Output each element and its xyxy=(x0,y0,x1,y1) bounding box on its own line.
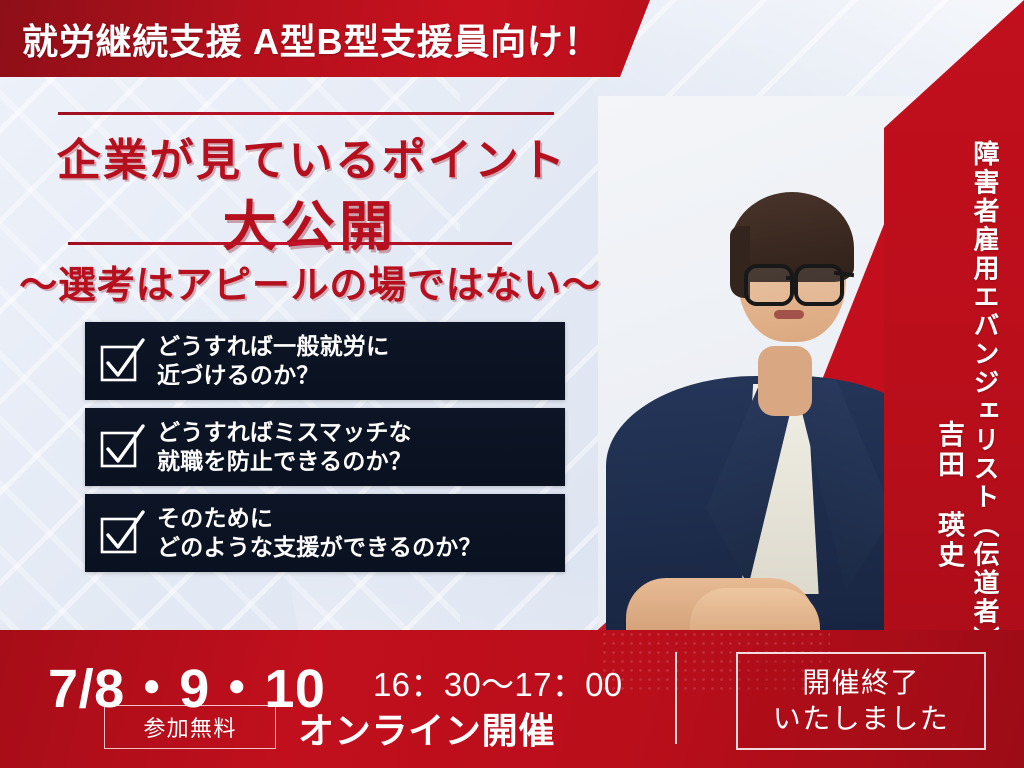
headline-rule-bottom xyxy=(68,242,512,245)
status-line-1: 開催終了 xyxy=(802,665,920,701)
speaker-title: 障害者雇用エバンジェリスト（伝道者） xyxy=(972,140,998,655)
checkbox-checked-icon xyxy=(99,424,145,470)
status-line-2: いたしました xyxy=(773,701,949,737)
checklist-item-label: どうすれば一般就労に 近づけるのか？ xyxy=(157,332,389,390)
checklist-item-label: そのために どのような支援ができるのか？ xyxy=(157,504,482,562)
speaker-mouth xyxy=(774,310,804,319)
headline-line-1: 企業が見ているポイント xyxy=(0,124,624,188)
event-format: オンライン開催 xyxy=(298,702,555,754)
headline-subtitle: 〜選考はアピールの場ではない〜 xyxy=(0,254,620,309)
headline-rule-top xyxy=(58,112,554,115)
seminar-poster: 就労継続支援 A型B型支援員向け！ 障害者雇用エバンジェリスト（伝道者） 吉田 … xyxy=(0,0,1024,768)
checklist-item: そのために どのような支援ができるのか？ xyxy=(85,494,565,572)
checkbox-checked-icon xyxy=(99,338,145,384)
speaker-name: 吉田 瑛史 xyxy=(935,420,962,571)
speaker-hand-overlap xyxy=(690,588,820,632)
event-bar-divider xyxy=(675,652,677,744)
top-banner: 就労継続支援 A型B型支援員向け！ xyxy=(0,0,650,77)
speaker-neck xyxy=(758,346,812,416)
headline-line-2: 大公開 xyxy=(0,182,620,261)
glasses-left-lens-icon xyxy=(744,264,794,306)
checkbox-checked-icon xyxy=(99,510,145,556)
event-time: 16：30〜17：00 xyxy=(373,658,622,706)
free-badge: 参加無料 xyxy=(104,705,276,749)
glasses-bridge-icon xyxy=(786,276,796,280)
top-banner-text: 就労継続支援 A型B型支援員向け！ xyxy=(22,13,600,65)
checklist-item: どうすれば一般就労に 近づけるのか？ xyxy=(85,322,565,400)
checklist-item-label: どうすればミスマッチな 就職を防止できるのか？ xyxy=(157,418,412,476)
status-badge: 開催終了 いたしました xyxy=(736,652,986,750)
checklist-item: どうすればミスマッチな 就職を防止できるのか？ xyxy=(85,408,565,486)
